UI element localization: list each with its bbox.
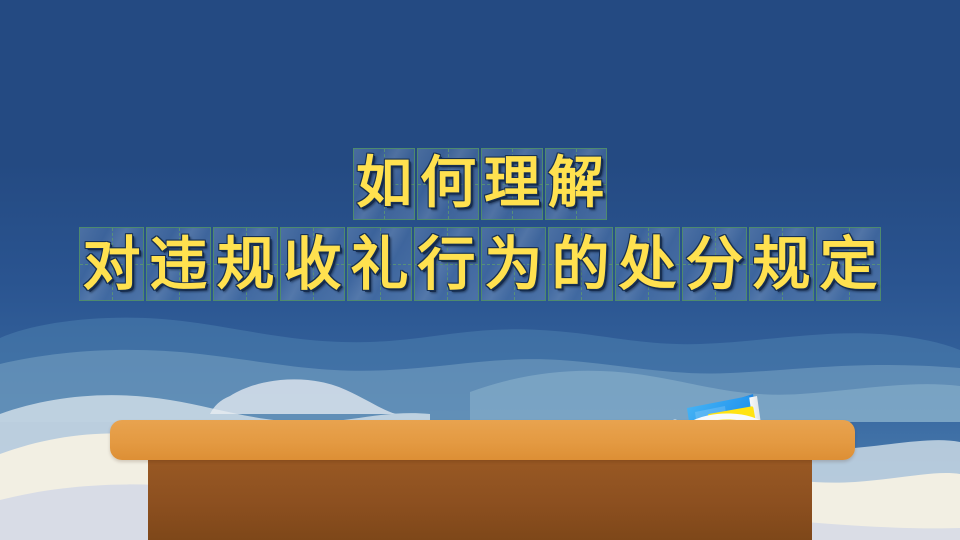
title-char-cell: 解 <box>545 148 607 220</box>
title-char: 礼 <box>350 235 408 293</box>
title-char: 定 <box>819 235 877 293</box>
title-char: 处 <box>618 235 676 293</box>
title-char-cell: 规 <box>749 227 814 301</box>
title-char-cell: 收 <box>280 227 345 301</box>
page-title: 如何理解 对违规收礼行为的处分规定 <box>0 148 960 301</box>
cloud-shape-mid-left <box>0 350 960 422</box>
title-char: 理 <box>484 156 540 212</box>
title-char: 解 <box>548 156 604 212</box>
title-char-cell: 为 <box>481 227 546 301</box>
lectern <box>0 420 960 540</box>
title-char-cell: 定 <box>816 227 881 301</box>
cloud-puff-center <box>210 379 396 414</box>
title-char: 如 <box>356 156 412 212</box>
title-slide: 如何理解 对违规收礼行为的处分规定 <box>0 0 960 540</box>
title-char-cell: 分 <box>682 227 747 301</box>
title-char-cell: 违 <box>146 227 211 301</box>
title-char-cell: 的 <box>548 227 613 301</box>
title-char: 何 <box>420 156 476 212</box>
title-char-cell: 规 <box>213 227 278 301</box>
title-char-cell: 处 <box>615 227 680 301</box>
cloud-shape-dark-left <box>0 318 960 422</box>
title-char: 收 <box>283 235 341 293</box>
title-char: 规 <box>216 235 274 293</box>
title-char-cell: 何 <box>417 148 479 220</box>
lectern-base <box>148 454 812 540</box>
title-char-cell: 对 <box>79 227 144 301</box>
title-char: 对 <box>82 235 140 293</box>
title-char-cell: 礼 <box>347 227 412 301</box>
title-line-2: 对违规收礼行为的处分规定 <box>0 227 960 301</box>
title-char: 为 <box>484 235 542 293</box>
title-char: 分 <box>685 235 743 293</box>
lectern-top <box>110 420 855 460</box>
title-char: 规 <box>752 235 810 293</box>
title-char: 的 <box>551 235 609 293</box>
title-char: 违 <box>149 235 207 293</box>
title-char-cell: 如 <box>353 148 415 220</box>
title-char-cell: 行 <box>414 227 479 301</box>
title-char-cell: 理 <box>481 148 543 220</box>
title-line-1: 如何理解 <box>0 148 960 220</box>
title-char: 行 <box>417 235 475 293</box>
